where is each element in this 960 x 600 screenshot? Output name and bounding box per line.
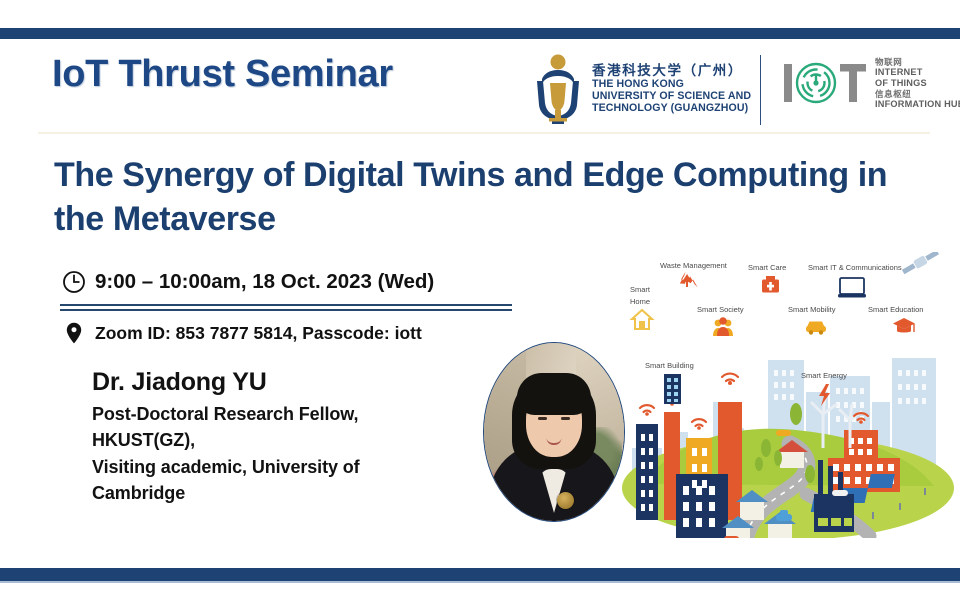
speaker-affiliation-line-1: Post-Doctoral Research Fellow, [92, 401, 462, 427]
iot-english-line1: INTERNET [875, 67, 960, 78]
label-smart-it-communications: Smart IT & Communications [808, 263, 902, 272]
top-accent-bar [0, 28, 960, 39]
seminar-time-text: 9:00 – 10:00am, 18 Oct. 2023 (Wed) [95, 270, 434, 294]
bottom-accent-bar [0, 568, 960, 581]
label-smart-home-line2: Home [630, 297, 650, 306]
label-smart-energy: Smart Energy [801, 371, 847, 380]
smart-city-illustration: Waste Management Smart Home Smart Societ… [618, 252, 954, 538]
satellite-icon [901, 252, 940, 276]
recycle-icon [679, 272, 698, 290]
iot-hub-logo-text: 物联网 INTERNET OF THINGS 信息枢纽 INFORMATION … [875, 57, 960, 110]
zoom-info-text: Zoom ID: 853 7877 5814, Passcode: iott [95, 323, 422, 344]
time-divider-rule [60, 304, 512, 311]
hkust-logo-text: 香港科技大学（广州） THE HONG KONG UNIVERSITY OF S… [592, 63, 751, 114]
label-smart-society: Smart Society [697, 305, 744, 314]
building-icon [664, 374, 681, 404]
smart-city-svg: Waste Management Smart Home Smart Societ… [618, 252, 954, 538]
seminar-poster: IoT Thrust Seminar 香港科技大学（广州） THE HONG K… [0, 0, 960, 600]
speaker-affiliation-line-3: Visiting academic, University of [92, 454, 462, 480]
car-icon [806, 322, 826, 335]
laptop-icon [838, 278, 866, 298]
speaker-name: Dr. Jiadong YU [92, 368, 462, 397]
hkust-emblem-icon [533, 53, 583, 125]
talk-title: The Synergy of Digital Twins and Edge Co… [54, 154, 934, 241]
portrait-eye-left [538, 417, 547, 420]
seminar-series-title: IoT Thrust Seminar [52, 53, 393, 96]
map-pin-icon [66, 322, 82, 344]
portrait-brooch [557, 492, 574, 509]
logo-divider [760, 55, 761, 125]
hkust-name-line3: TECHNOLOGY (GUANGZHOU) [592, 103, 751, 115]
label-smart-care: Smart Care [748, 263, 786, 272]
iot-hub-logo: 物联网 INTERNET OF THINGS 信息枢纽 INFORMATION … [782, 57, 960, 110]
label-waste-management: Waste Management [660, 261, 728, 270]
label-smart-home-line1: Smart [630, 285, 651, 294]
poster-header: IoT Thrust Seminar 香港科技大学（广州） THE HONG K… [0, 45, 960, 133]
hkust-name-chinese: 香港科技大学（广州） [592, 63, 751, 78]
city-towers [636, 402, 742, 538]
label-smart-mobility: Smart Mobility [788, 305, 836, 314]
hkust-name-line1: THE HONG KONG [592, 79, 751, 91]
home-icon [632, 310, 652, 329]
label-smart-building: Smart Building [645, 361, 694, 370]
portrait-fringe [517, 373, 591, 415]
speaker-portrait [483, 342, 625, 522]
iot-english-line3: INFORMATION HUB [875, 99, 960, 110]
hkust-name-line2: UNIVERSITY OF SCIENCE AND [592, 91, 751, 103]
speaker-block: Dr. Jiadong YU Post-Doctoral Research Fe… [92, 368, 462, 507]
people-icon [713, 317, 733, 336]
iot-wordmark-icon [782, 60, 868, 106]
iot-chinese-info-hub: 信息枢纽 [875, 89, 960, 99]
seminar-time-row: 9:00 – 10:00am, 18 Oct. 2023 (Wed) [62, 270, 434, 294]
portrait-eye-right [561, 417, 570, 420]
header-divider-rule [38, 132, 930, 134]
iot-english-line2: OF THINGS [875, 78, 960, 89]
bottom-accent-thin-line [0, 581, 960, 583]
hkust-logo: 香港科技大学（广州） THE HONG KONG UNIVERSITY OF S… [533, 53, 751, 125]
iot-chinese-internet-of-things: 物联网 [875, 57, 960, 67]
medical-kit-icon [762, 276, 779, 293]
speaker-affiliation-line-2: HKUST(GZ), [92, 427, 462, 453]
label-smart-education: Smart Education [868, 305, 923, 314]
graduation-cap-icon [893, 318, 915, 333]
speaker-affiliation-line-4: Cambridge [92, 480, 462, 506]
zoom-info-row: Zoom ID: 853 7877 5814, Passcode: iott [66, 322, 422, 344]
clock-icon [62, 270, 86, 294]
